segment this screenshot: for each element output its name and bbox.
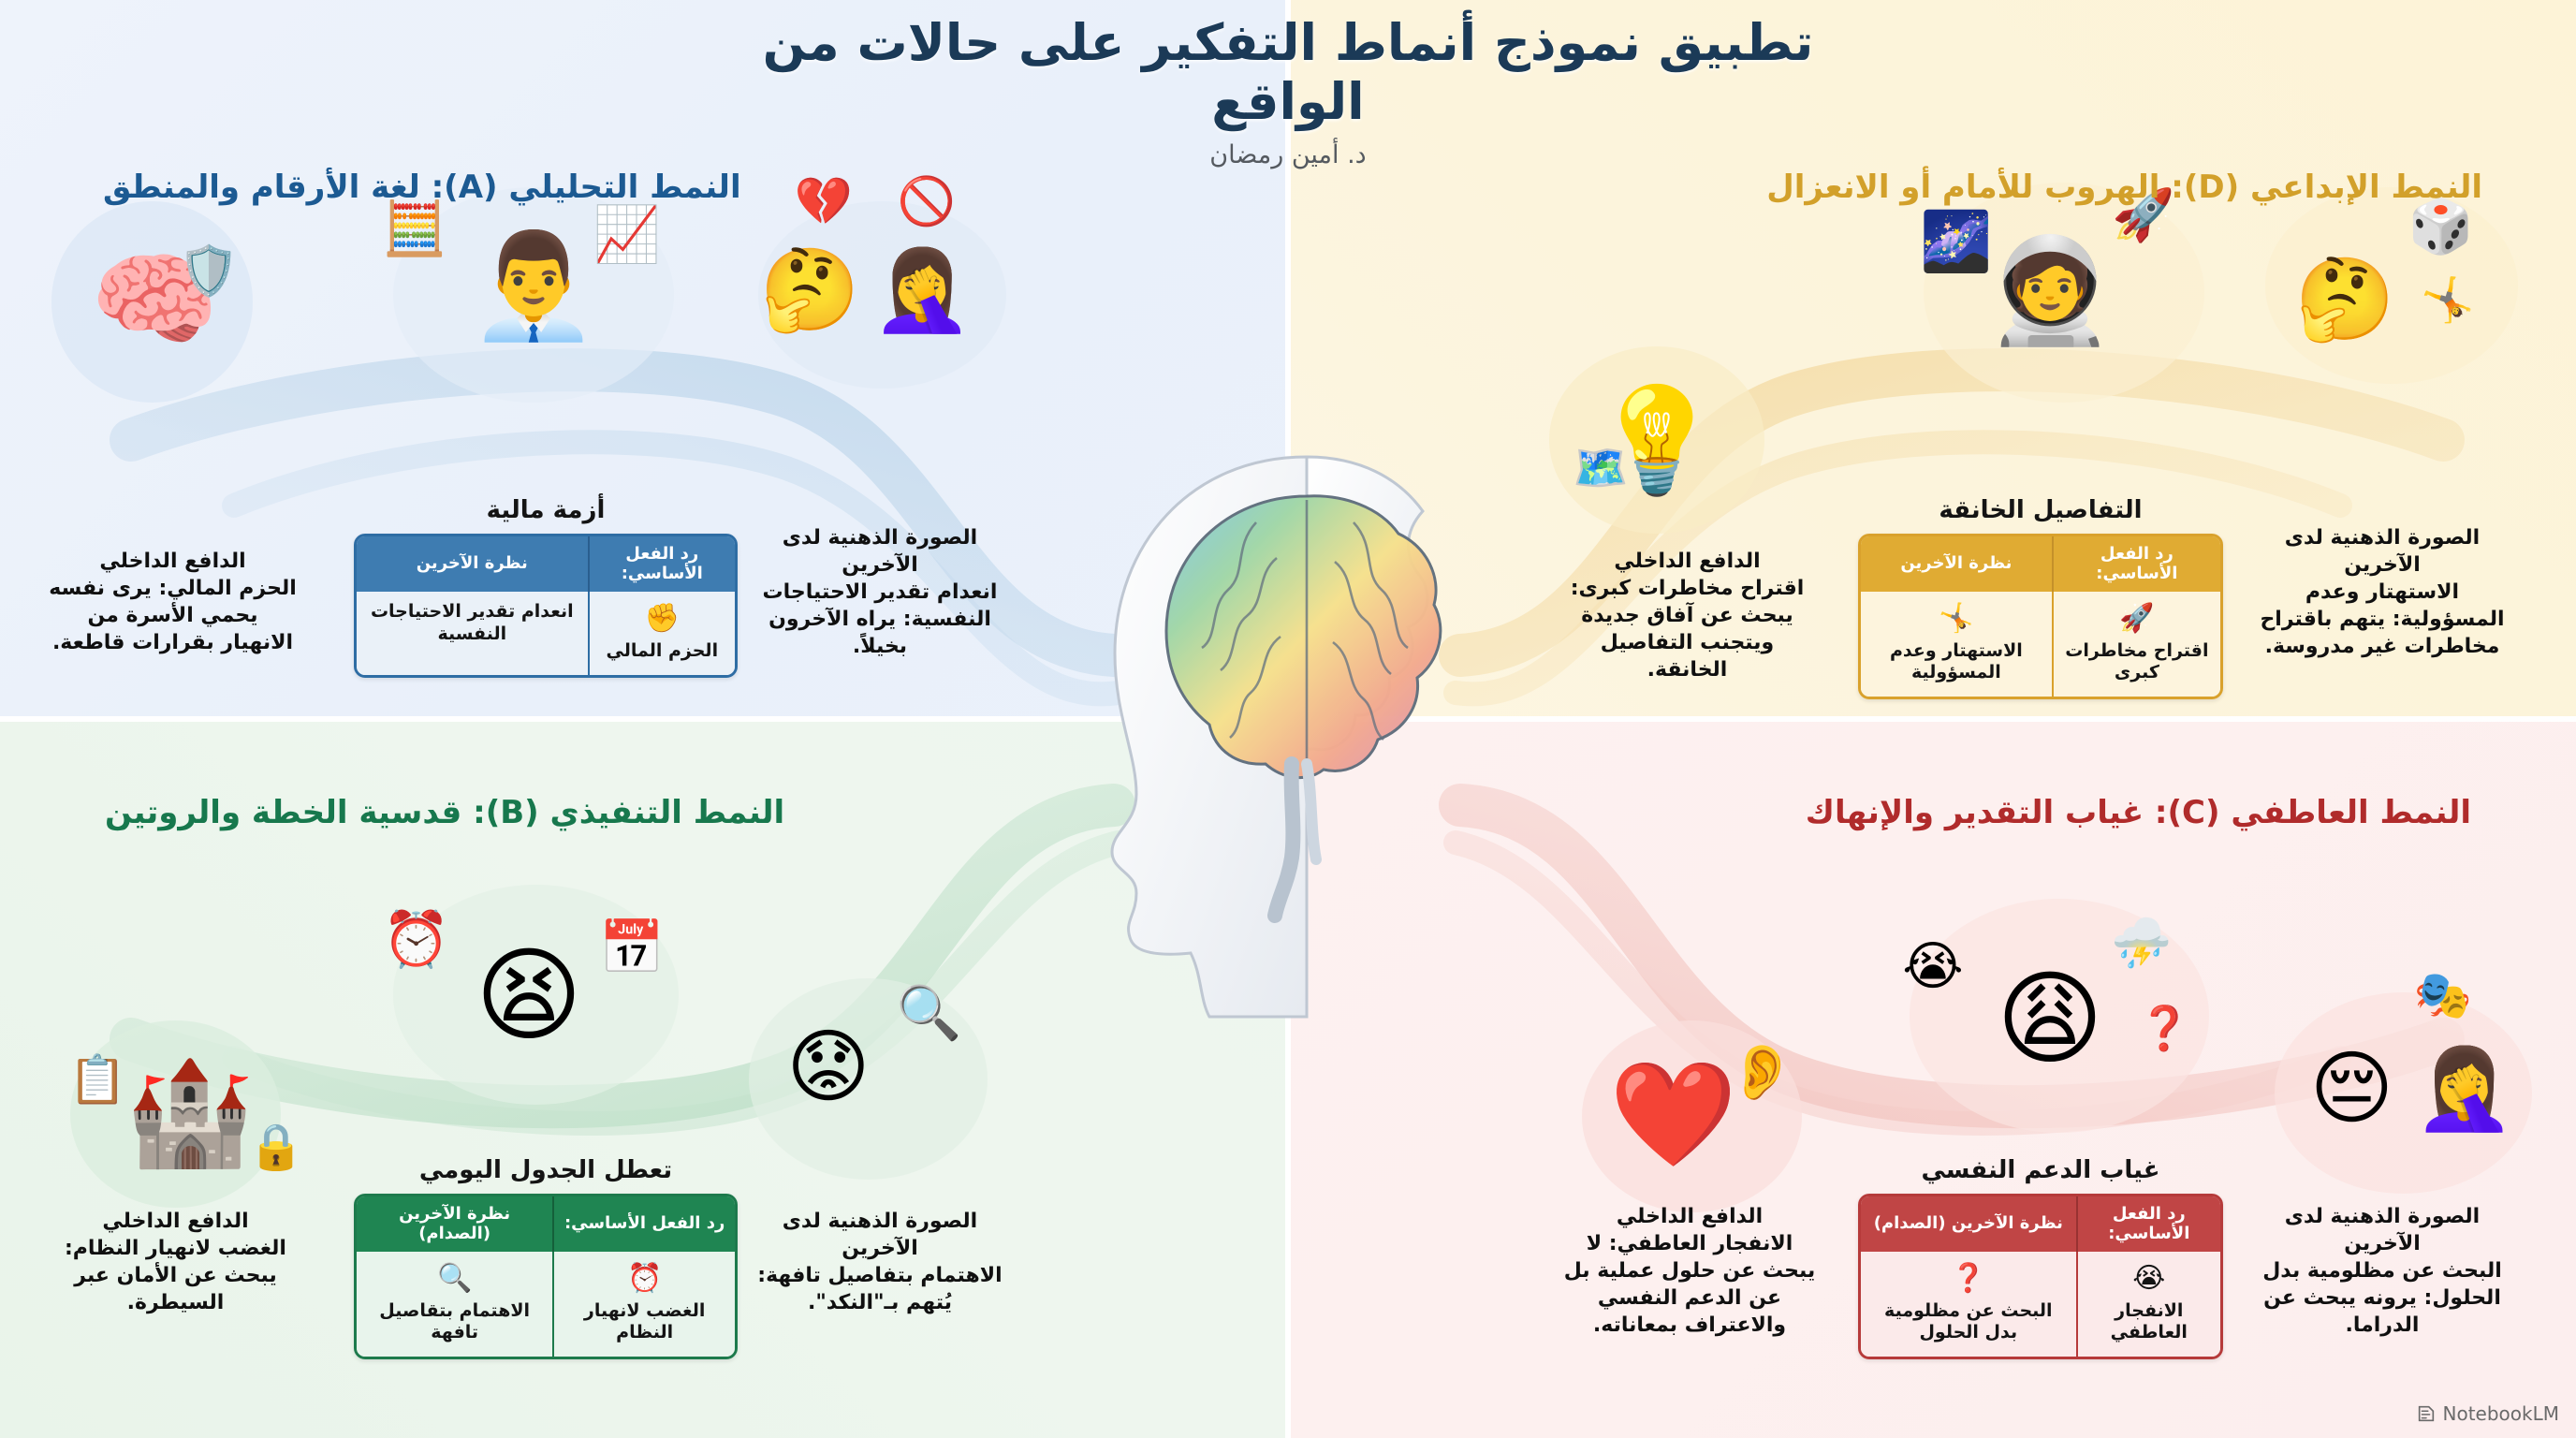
table-row: 😭 الانفجار العاطفي ❓ البحث عن مظلومية بد…	[1861, 1252, 2220, 1357]
cell-reaction-emotional: 😭 الانفجار العاطفي	[2076, 1252, 2220, 1357]
cell-others-text-executive: الاهتمام بتقاصيل تافهة	[379, 1300, 530, 1343]
magnifier-icon: 🔍	[364, 1261, 545, 1297]
cell-others-executive: 🔍 الاهتمام بتقاصيل تافهة	[357, 1252, 552, 1357]
cell-others-text-creative: الاستهتار وعدم المسؤولية	[1890, 640, 2023, 682]
sad-person-magnifier-icon: 😟	[758, 997, 899, 1137]
quadrant-title-creative: النمط الإبداعي (D): الهروب للأمام أو الا…	[1766, 169, 2482, 206]
cell-reaction-creative: 🚀 اقتراح مخاطرات كبرى	[2052, 592, 2220, 697]
col-others-creative: نظرة الآخرين	[1861, 536, 2052, 592]
cell-others-text-analytical: انعدام تقدير الاحتياجات النفسية	[371, 601, 574, 643]
rocket-icon: 🚀	[2061, 601, 2213, 637]
case-table-creative[interactable]: رد الفعل الأساسي: نظرة الآخرين 🚀 اقتراح …	[1858, 534, 2223, 699]
quadrant-title-analytical: النمط التحليلي (A): لغة الأرقام والمنطق	[103, 169, 741, 206]
image-text-creative: الصورة الذهنية لدى الآخرين الاستهتار وعد…	[2247, 524, 2518, 660]
question-mark-icon: ❓	[1868, 1261, 2069, 1297]
table-header-row: رد الفعل الأساسي: نظرة الآخرين	[357, 536, 735, 592]
drive-body-creative: اقتراح مخاطرات كبرى: يبحث عن آفاق جديدة …	[1571, 577, 1805, 682]
image-label-emotional: الصورة الذهنية لدى الآخرين	[2247, 1203, 2518, 1257]
cell-reaction-text-creative: اقتراح مخاطرات كبرى	[2065, 640, 2208, 682]
thinking-woman-icon: 🤦‍♀️	[861, 229, 983, 351]
image-body-creative: الاستهتار وعدم المسؤولية: يتهم باقتراح م…	[2260, 580, 2504, 658]
case-table-executive[interactable]: رد الفعل الأساسي: نظرة الآخرين (الصدام) …	[354, 1194, 738, 1359]
cell-reaction-text-analytical: الحزم المالي	[607, 640, 719, 661]
infographic-canvas: تطبيق نموذج أنماط التفكير على حالات من ا…	[0, 0, 2576, 1438]
drive-text-executive: الدافع الداخلي الغضب لانهيار النظام: يبح…	[47, 1208, 304, 1316]
cell-others-analytical: انعدام تقدير الاحتياجات النفسية	[357, 592, 588, 675]
col-others-analytical: نظرة الآخرين	[357, 536, 588, 592]
tightrope-walker-icon: 🤸	[1868, 601, 2044, 637]
case-table-analytical[interactable]: رد الفعل الأساسي: نظرة الآخرين ✊ الحزم ا…	[354, 534, 738, 678]
case-card-executive[interactable]: تعطل الجدول اليومي رد الفعل الأساسي: نظر…	[354, 1156, 738, 1359]
image-block-emotional: الصورة الذهنية لدى الآخرين البحث عن مظلو…	[2247, 1203, 2518, 1339]
theater-masks-icon: 🎭	[2401, 955, 2485, 1034]
case-title-emotional: غياب الدعم النفسي	[1858, 1156, 2223, 1184]
clock-icon: ⏰	[370, 894, 463, 983]
notebooklm-watermark: NotebookLM	[2416, 1402, 2560, 1425]
image-label-analytical: الصورة الذهنية لدى الآخرين	[749, 524, 1011, 579]
case-card-emotional[interactable]: غياب الدعم النفسي رد الفعل الأساسي: نظرة…	[1858, 1156, 2223, 1359]
image-body-analytical: انعدام تقدير الاحتياجات النفسية: يراه ال…	[763, 580, 998, 658]
drive-label-analytical: الدافع الداخلي	[49, 548, 297, 575]
drive-label-emotional: الدافع الداخلي	[1559, 1203, 1821, 1230]
header: تطبيق نموذج أنماط التفكير على حالات من ا…	[726, 13, 1850, 169]
image-block-creative: الصورة الذهنية لدى الآخرين الاستهتار وعد…	[2247, 524, 2518, 660]
col-others-emotional: نظرة الآخرين (الصدام)	[1861, 1196, 2076, 1252]
thinking-man-creative-icon: 🤔	[2279, 234, 2410, 365]
image-text-analytical: الصورة الذهنية لدى الآخرين انعدام تقدير …	[749, 524, 1011, 660]
table-row: ✊ الحزم المالي انعدام تقدير الاحتياجات ا…	[357, 592, 735, 675]
col-reaction-executive: رد الفعل الأساسي:	[552, 1196, 735, 1252]
case-card-creative[interactable]: التفاصيل الخانقة رد الفعل الأساسي: نظرة …	[1858, 496, 2223, 699]
cell-others-text-emotional: البحث عن مظلومية بدل الحلول	[1884, 1300, 2053, 1343]
drive-label-creative: الدافع الداخلي	[1563, 548, 1811, 575]
quadrant-title-emotional: النمط العاطفي (C): غياب التقدير والإنهاك	[1806, 794, 2471, 831]
question-mark-icon: ❓	[2125, 988, 2204, 1067]
case-table-emotional[interactable]: رد الفعل الأساسي: نظرة الآخرين (الصدام) …	[1858, 1194, 2223, 1359]
prohibited-icon: 🚫	[889, 164, 964, 239]
lock-icon: 🔒	[239, 1109, 314, 1184]
case-card-analytical[interactable]: أزمة مالية رد الفعل الأساسي: نظرة الآخري…	[354, 496, 738, 678]
quadrant-title-executive: النمط التنفيذي (B): قدسية الخطة والروتين	[105, 794, 784, 831]
drive-body-executive: الغضب لانهيار النظام: يبحث عن الأمان عبر…	[65, 1237, 286, 1314]
image-text-executive: الصورة الذهنية لدى الآخرين الاهتمام بتفا…	[749, 1208, 1011, 1316]
broken-heart-icon: 💔	[786, 164, 861, 239]
col-others-executive: نظرة الآخرين (الصدام)	[357, 1196, 552, 1252]
table-row: ⏰ الغضب لانهيار النظام 🔍 الاهتمام بتقاصي…	[357, 1252, 735, 1357]
tightrope-walker-icon: 🤸	[2406, 262, 2490, 337]
storm-cloud-icon: ⛈️	[2097, 899, 2186, 988]
drive-block-executive: الدافع الداخلي الغضب لانهيار النظام: يبح…	[47, 1208, 304, 1316]
col-reaction-emotional: رد الفعل الأساسي:	[2076, 1196, 2220, 1252]
image-body-emotional: البحث عن مظلومية بدل الحلول: يرونه يبحث …	[2262, 1259, 2502, 1337]
thinking-man-icon: 🤔	[749, 229, 871, 351]
page-title: تطبيق نموذج أنماط التفكير على حالات من ا…	[726, 13, 1850, 131]
table-header-row: رد الفعل الأساسي: نظرة الآخرين (الصدام)	[357, 1196, 735, 1252]
drive-body-emotional: الانفجار العاطفي: لا يبحث عن حلول عملية …	[1564, 1232, 1816, 1337]
drive-block-emotional: الدافع الداخلي الانفجار العاطفي: لا يبحث…	[1559, 1203, 1821, 1339]
drive-block-creative: الدافع الداخلي اقتراح مخاطرات كبرى: يبحث…	[1563, 548, 1811, 683]
crying-hug-icon: 😭	[1886, 922, 1980, 1011]
cell-reaction-analytical: ✊ الحزم المالي	[588, 592, 735, 675]
map-icon: 🗺️	[1559, 431, 1643, 506]
ear-icon: 👂	[1713, 1025, 1811, 1119]
calendar-icon: 📅	[585, 903, 679, 992]
cell-others-emotional: ❓ البحث عن مظلومية بدل الحلول	[1861, 1252, 2076, 1357]
drive-text-creative: الدافع الداخلي اقتراح مخاطرات كبرى: يبحث…	[1563, 548, 1811, 683]
watermark-label: NotebookLM	[2443, 1402, 2560, 1425]
case-title-creative: التفاصيل الخانقة	[1858, 496, 2223, 524]
sad-woman-two-icon: 🤦‍♀️	[2396, 1020, 2532, 1156]
drive-text-emotional: الدافع الداخلي الانفجار العاطفي: لا يبحث…	[1559, 1203, 1821, 1339]
cell-others-creative: 🤸 الاستهتار وعدم المسؤولية	[1861, 592, 2052, 697]
alarm-clock-icon: ⏰	[562, 1261, 727, 1297]
crying-face-icon: 😭	[2086, 1261, 2213, 1297]
image-text-emotional: الصورة الذهنية لدى الآخرين البحث عن مظلو…	[2247, 1203, 2518, 1339]
author-subtitle: د. أمين رمضان	[726, 140, 1850, 169]
col-reaction-creative: رد الفعل الأساسي:	[2052, 536, 2220, 592]
image-label-executive: الصورة الذهنية لدى الآخرين	[749, 1208, 1011, 1262]
table-header-row: رد الفعل الأساسي: نظرة الآخرين (الصدام)	[1861, 1196, 2220, 1252]
cell-reaction-text-emotional: الانفجار العاطفي	[2111, 1300, 2188, 1343]
image-block-analytical: الصورة الذهنية لدى الآخرين انعدام تقدير …	[749, 524, 1011, 660]
cell-reaction-executive: ⏰ الغضب لانهيار النظام	[552, 1252, 735, 1357]
drive-block-analytical: الدافع الداخلي الحزم المالي: يرى نفسه يح…	[49, 548, 297, 656]
cell-reaction-text-executive: الغضب لانهيار النظام	[584, 1300, 705, 1343]
galaxy-window-icon: 🌌	[1905, 192, 2008, 290]
col-reaction-analytical: رد الفعل الأساسي:	[588, 536, 735, 592]
image-body-executive: الاهتمام بتفاصيل تافهة: يُتهم بـ"النكد".	[757, 1264, 1002, 1314]
magnifier-icon: 🔍	[885, 969, 973, 1058]
table-row: 🚀 اقتراح مخاطرات كبرى 🤸 الاستهتار وعدم ا…	[1861, 592, 2220, 697]
raised-fist-icon: ✊	[597, 601, 727, 637]
shield-check-icon: 🛡️	[176, 239, 241, 304]
image-block-executive: الصورة الذهنية لدى الآخرين الاهتمام بتفا…	[749, 1208, 1011, 1316]
image-label-creative: الصورة الذهنية لدى الآخرين	[2247, 524, 2518, 579]
drive-label-executive: الدافع الداخلي	[47, 1208, 304, 1235]
case-title-executive: تعطل الجدول اليومي	[354, 1156, 738, 1184]
checklist-icon: 📋	[58, 1039, 138, 1119]
table-header-row: رد الفعل الأساسي: نظرة الآخرين	[1861, 536, 2220, 592]
drive-body-analytical: الحزم المالي: يرى نفسه يحمي الأسرة من ال…	[49, 577, 297, 654]
case-title-analytical: أزمة مالية	[354, 496, 738, 524]
notebooklm-icon	[2416, 1403, 2437, 1424]
drive-text-analytical: الدافع الداخلي الحزم المالي: يرى نفسه يح…	[49, 548, 297, 656]
